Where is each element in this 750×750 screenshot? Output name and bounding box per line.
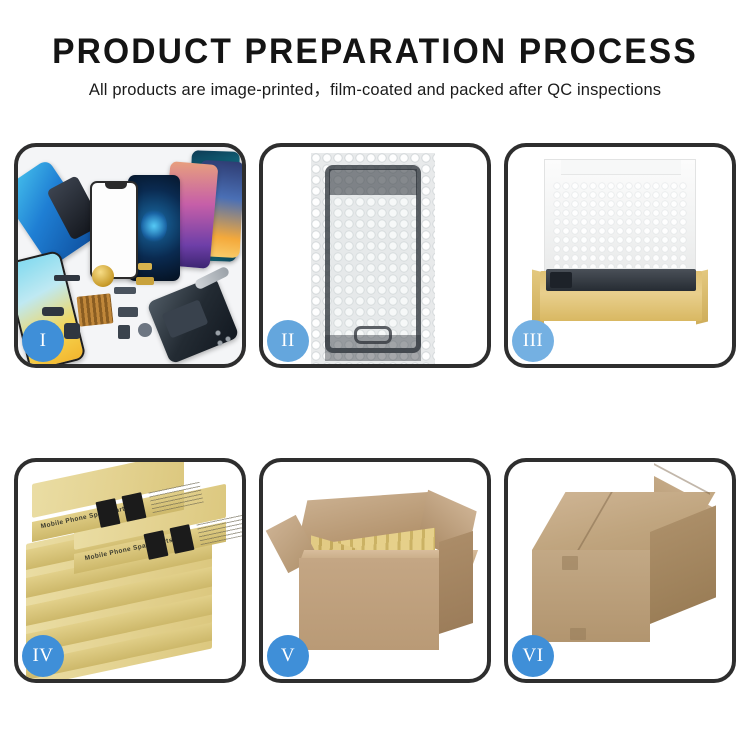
carton-tape-1 — [562, 556, 578, 570]
step-panel-5: V — [259, 458, 491, 683]
retail-box-5 — [26, 600, 212, 626]
part-i-icon — [138, 263, 152, 270]
phone-screen-icon — [325, 165, 421, 353]
part-d-icon — [64, 323, 80, 339]
step-badge-3: III — [512, 320, 554, 362]
carton-tape-2 — [570, 628, 586, 640]
part-k-icon — [114, 287, 136, 294]
part-a-icon — [54, 275, 80, 281]
screen-bottom-bezel — [325, 335, 421, 361]
speaker-coil-icon — [92, 265, 114, 287]
retail-box-4 — [26, 572, 212, 598]
step-panel-4: Mobile Phone Spare Parts Mobile Phone Sp… — [14, 458, 246, 683]
phone-white-icon — [90, 181, 138, 279]
part-h-icon — [136, 277, 154, 285]
step-badge-1: I — [22, 320, 64, 362]
step-badge-6: VI — [512, 635, 554, 677]
step-badge-4: IV — [22, 635, 64, 677]
sealed-carton-front — [532, 550, 650, 642]
chip-grid-icon — [77, 293, 114, 326]
page-header: PRODUCT PREPARATION PROCESS All products… — [0, 0, 750, 103]
retail-box-1: Mobile Phone Spare Parts — [32, 484, 184, 542]
product-preparation-infographic: PRODUCT PREPARATION PROCESS All products… — [0, 0, 750, 750]
part-b-icon — [42, 307, 64, 316]
process-step-grid: I II III — [14, 143, 736, 683]
carton-side-right — [439, 531, 473, 634]
step-panel-3: III — [504, 143, 736, 368]
box-lid-icon — [544, 159, 696, 275]
part-e-icon — [118, 307, 138, 317]
part-g-icon — [138, 323, 152, 337]
step-panel-1: I — [14, 143, 246, 368]
step-panel-2: II — [259, 143, 491, 368]
bubble-wrap-icon — [311, 153, 435, 364]
step-badge-2: II — [267, 320, 309, 362]
page-title: PRODUCT PREPARATION PROCESS — [15, 30, 735, 74]
phone-blue-icon — [18, 159, 99, 268]
box-tray-icon — [540, 271, 702, 321]
step-panel-6: VI — [504, 458, 736, 683]
carton-front — [299, 558, 439, 650]
screws-icon — [214, 329, 236, 347]
page-subtitle: All products are image-printed，film-coat… — [0, 77, 750, 103]
phone-backplate-icon — [146, 276, 239, 364]
part-f-icon — [118, 325, 130, 339]
step-badge-5: V — [267, 635, 309, 677]
